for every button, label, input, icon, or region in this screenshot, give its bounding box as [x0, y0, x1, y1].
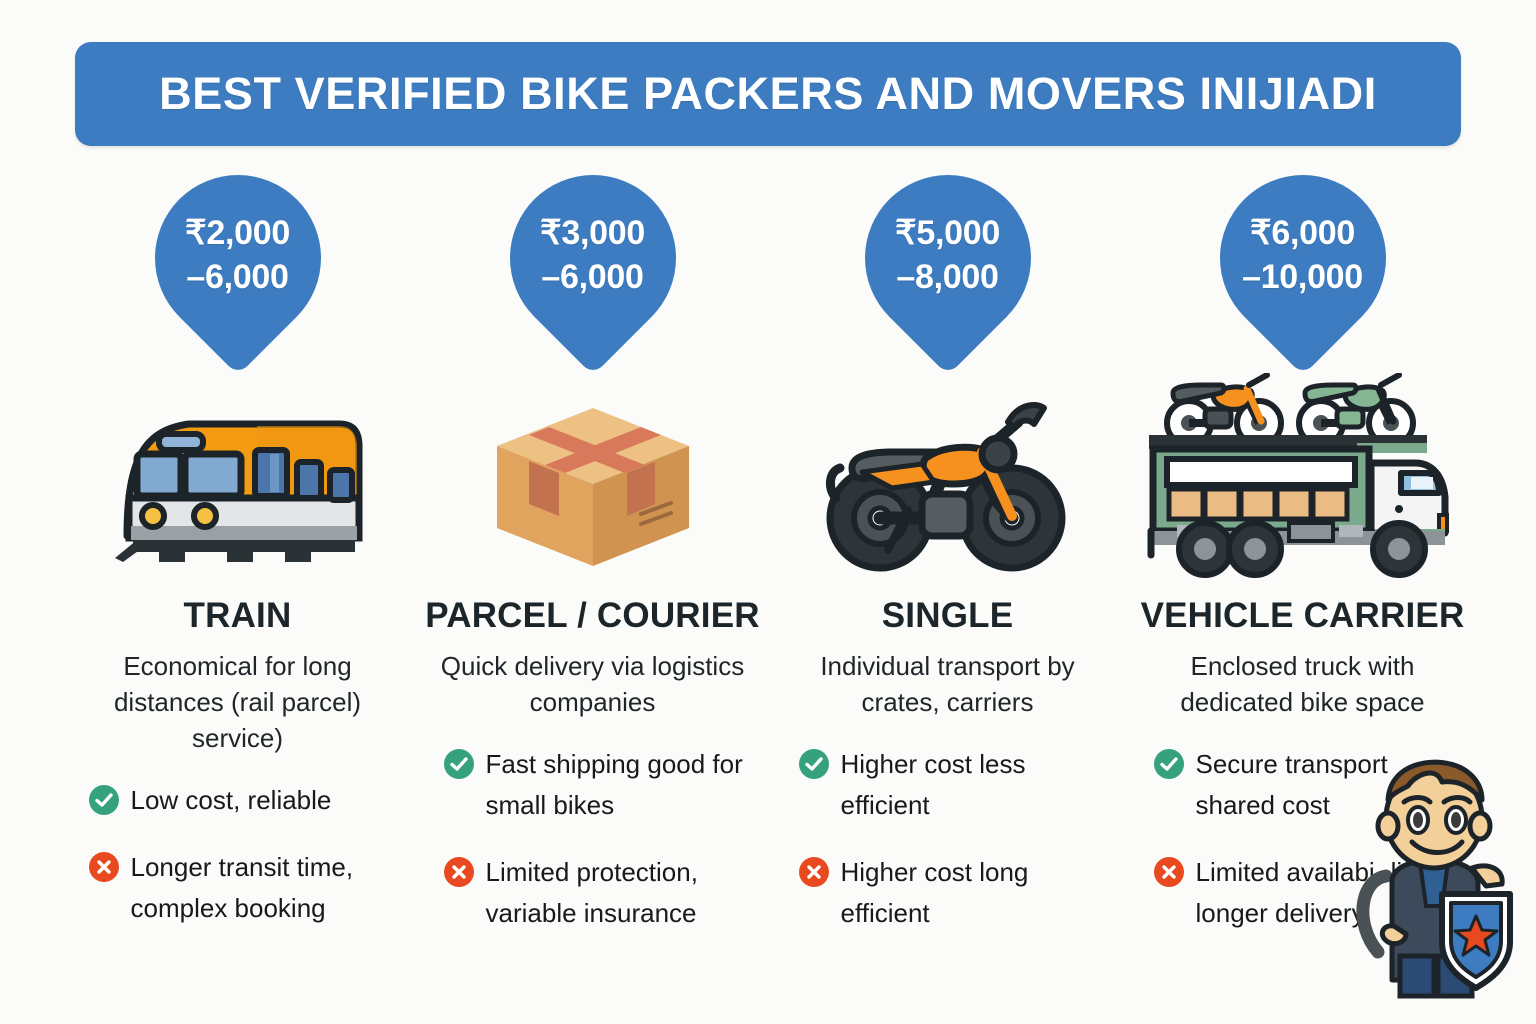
price-line-2: –6,000	[150, 255, 325, 299]
cardboard-box-icon	[489, 398, 697, 578]
category-description-vehicle-carrier: Enclosed truck with dedicated bike space	[1143, 648, 1463, 720]
con-bullet-single: Higher cost long efficient	[799, 852, 1113, 934]
con-text-parcel-courier: Limited protection, variable insurance	[486, 852, 758, 934]
motorcycle-icon	[822, 398, 1074, 578]
con-text-single: Higher cost long efficient	[841, 852, 1113, 934]
cargo-panels	[1169, 489, 1347, 519]
con-bullet-train: Longer transit time, complex booking	[89, 847, 403, 929]
check-circle-icon	[89, 785, 119, 815]
price-pin-vehicle-carrier: ₹6,000 –10,000	[1215, 175, 1390, 395]
price-range-single: ₹5,000 –8,000	[860, 211, 1035, 299]
price-pin-parcel-courier: ₹3,000 –6,000	[505, 175, 680, 395]
category-description-single: Individual transport by crates, carriers	[788, 648, 1108, 720]
check-circle-icon	[799, 749, 829, 779]
x-circle-icon	[444, 857, 474, 887]
x-circle-icon	[799, 857, 829, 887]
category-title-vehicle-carrier: VEHICLE CARRIER	[1141, 596, 1465, 636]
price-line-1: ₹3,000	[505, 211, 680, 255]
pro-bullet-parcel-courier: Fast shipping good for small bikes	[444, 744, 758, 826]
category-title-parcel-courier: PARCEL / COURIER	[425, 596, 759, 636]
price-range-parcel-courier: ₹3,000 –6,000	[505, 211, 680, 299]
category-description-train: Economical for long distances (rail parc…	[78, 648, 398, 756]
top-bike-orange	[1167, 375, 1281, 445]
price-range-vehicle-carrier: ₹6,000 –10,000	[1215, 211, 1390, 299]
bullets-parcel-courier: Fast shipping good for small bikes Limit…	[428, 744, 758, 960]
check-circle-icon	[444, 749, 474, 779]
con-text-train: Longer transit time, complex booking	[131, 847, 403, 929]
price-line-1: ₹6,000	[1215, 211, 1390, 255]
illustration-train	[68, 373, 408, 578]
train-icon	[107, 398, 369, 578]
pro-bullet-single: Higher cost less efficient	[799, 744, 1113, 826]
column-single: ₹5,000 –8,000	[770, 175, 1125, 960]
page-title: BEST VERIFIED BIKE PACKERS AND MOVERS IN…	[159, 68, 1377, 120]
column-train: ₹2,000 –6,000	[60, 175, 415, 960]
header-banner: BEST VERIFIED BIKE PACKERS AND MOVERS IN…	[75, 42, 1461, 146]
price-pin-single: ₹5,000 –8,000	[860, 175, 1035, 395]
pro-text-parcel-courier: Fast shipping good for small bikes	[486, 744, 758, 826]
comparison-columns: ₹2,000 –6,000	[60, 175, 1480, 960]
price-line-2: –8,000	[860, 255, 1035, 299]
category-title-single: SINGLE	[882, 596, 1014, 636]
illustration-motorcycle	[778, 373, 1118, 578]
illustration-carrier-truck	[1133, 373, 1473, 578]
price-line-1: ₹2,000	[150, 211, 325, 255]
pro-text-train: Low cost, reliable	[131, 780, 332, 821]
carrier-truck-icon	[1143, 373, 1463, 578]
price-pin-train: ₹2,000 –6,000	[150, 175, 325, 395]
check-circle-icon	[1154, 749, 1184, 779]
mascot-character-with-shield	[1338, 756, 1528, 1006]
x-circle-icon	[89, 852, 119, 882]
price-line-2: –10,000	[1215, 255, 1390, 299]
top-bike-green	[1299, 375, 1413, 445]
column-parcel-courier: ₹3,000 –6,000 P	[415, 175, 770, 960]
price-line-2: –6,000	[505, 255, 680, 299]
bullets-train: Low cost, reliable Longer transit time, …	[73, 780, 403, 955]
category-title-train: TRAIN	[184, 596, 292, 636]
category-description-parcel-courier: Quick delivery via logistics companies	[433, 648, 753, 720]
pro-bullet-train: Low cost, reliable	[89, 780, 403, 821]
bullets-single: Higher cost less efficient Higher cost l…	[783, 744, 1113, 960]
con-bullet-parcel-courier: Limited protection, variable insurance	[444, 852, 758, 934]
price-range-train: ₹2,000 –6,000	[150, 211, 325, 299]
x-circle-icon	[1154, 857, 1184, 887]
price-line-1: ₹5,000	[860, 211, 1035, 255]
illustration-parcel	[423, 373, 763, 578]
pro-text-single: Higher cost less efficient	[841, 744, 1113, 826]
